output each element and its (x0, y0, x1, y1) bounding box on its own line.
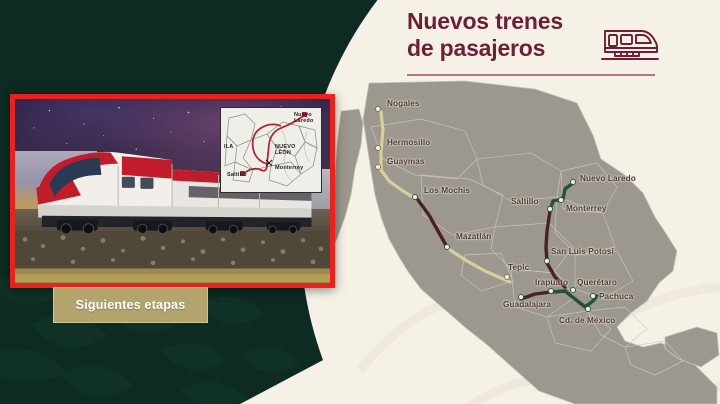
station-dot-hermosillo[interactable] (375, 145, 381, 151)
inset-map-nuevo-leon: NUEVOLEÓN ILA NuevoLaredo Monterrey Salt… (220, 107, 322, 193)
inset-label-nuevo-leon: NUEVOLEÓN (275, 144, 296, 156)
station-dot-saltillo[interactable] (547, 206, 553, 212)
slide-root: Nuevos trenes de pasajeros (0, 0, 720, 404)
station-dot-queretaro[interactable] (570, 287, 576, 293)
train-icon (601, 26, 659, 64)
station-dot-san-luis-potosi[interactable] (544, 258, 550, 264)
station-dot-guadalajara[interactable] (518, 294, 524, 300)
station-dot-irapuato[interactable] (548, 288, 554, 294)
station-dot-monterrey[interactable] (558, 197, 564, 203)
title-line-2: de pasajeros (407, 35, 545, 61)
station-dot-nuevo-laredo[interactable] (570, 179, 576, 185)
track-ballast (15, 231, 330, 283)
station-dot-los-mochis[interactable] (412, 194, 418, 200)
inset-label-saltillo: Saltillo (227, 172, 247, 178)
station-dot-mazatlan[interactable] (444, 244, 450, 250)
inset-label-monterrey: Monterrey (275, 165, 303, 171)
station-dot-cd-de-mexico[interactable] (585, 306, 591, 312)
map-svg (325, 75, 720, 404)
siguientes-etapas-label: Siguientes etapas (76, 298, 186, 312)
station-dot-nogales[interactable] (375, 106, 381, 112)
train-photo: NUEVOLEÓN ILA NuevoLaredo Monterrey Salt… (15, 99, 330, 283)
title-line-1: Nuevos trenes (407, 8, 563, 34)
page-title: Nuevos trenes de pasajeros (407, 8, 607, 62)
inset-label-nuevo-laredo: NuevoLaredo (294, 112, 314, 124)
mexico-route-map: Nogales Hermosillo Guaymas Los Mochis Ma… (325, 75, 720, 404)
station-dot-guaymas[interactable] (375, 164, 381, 170)
siguientes-etapas-button[interactable]: Siguientes etapas (53, 287, 208, 323)
station-dot-pachuca[interactable] (590, 293, 596, 299)
inset-label-neighbor-state: ILA (224, 144, 233, 150)
header: Nuevos trenes de pasajeros (407, 8, 707, 80)
train-photo-card: NUEVOLEÓN ILA NuevoLaredo Monterrey Salt… (10, 94, 335, 288)
station-dot-tepic[interactable] (504, 274, 510, 280)
